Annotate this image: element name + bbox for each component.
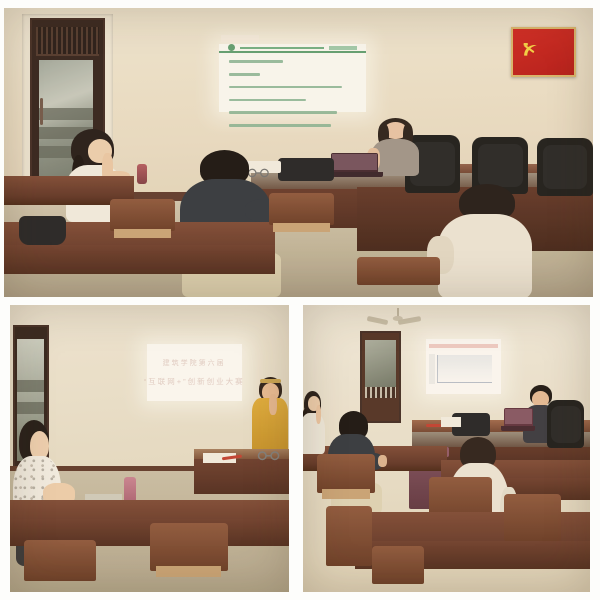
slide-bullet-icon [228, 44, 235, 51]
ceiling-fan [378, 308, 418, 334]
laptop-on-head-table[interactable] [504, 408, 533, 431]
wooden-chair[interactable] [372, 546, 424, 592]
door-handle[interactable] [40, 98, 43, 125]
red-pen-on-table [426, 424, 440, 427]
person-presenter-yellow-dress [250, 377, 289, 457]
wooden-chair[interactable] [357, 257, 439, 297]
arm-to-face [269, 394, 277, 415]
panel-presenter-in-yellow-dress[interactable]: 建筑学院第六届 “互联网+”创新创业大赛 [10, 305, 289, 592]
cpc-flag-frame [511, 27, 577, 77]
torso [303, 413, 325, 455]
slide-sidebar [429, 354, 434, 385]
wooden-chair[interactable] [150, 523, 228, 592]
wooden-chair[interactable] [504, 494, 561, 569]
handbag-on-desk[interactable] [19, 216, 66, 245]
slide-header-bar [429, 344, 498, 348]
wall-light-patch [221, 35, 259, 43]
wooden-chair[interactable] [110, 199, 175, 257]
eyeglasses-on-table [256, 450, 281, 461]
slide-title-line-1: 建筑学院第六届 [163, 358, 226, 368]
wall-projection-screen [426, 339, 501, 394]
slide-diagram [437, 355, 492, 383]
laptop-on-judges-table[interactable] [331, 153, 378, 178]
slide-title-block: 建筑学院第六届 “互联网+”创新创业大赛 [147, 344, 242, 401]
panel-judge-with-laptop-and-audience[interactable] [303, 305, 590, 592]
cpc-flag [513, 29, 575, 75]
person-attendee-man-right [434, 184, 546, 297]
photo-collage: 建筑学院第六届 “互联网+”创新创业大赛 [0, 0, 600, 600]
door-grille [36, 27, 99, 56]
hammer-and-sickle-icon [521, 37, 542, 64]
hand [378, 455, 387, 467]
papers-on-table [441, 417, 461, 427]
slide-content [219, 44, 366, 112]
wall-projection-screen [219, 44, 366, 112]
panel-conference-room-wide-shot[interactable] [4, 8, 593, 297]
wooden-chair[interactable] [326, 506, 372, 592]
title-slide-screen: 建筑学院第六届 “互联网+”创新创业大赛 [147, 344, 242, 401]
wooden-chair[interactable] [24, 540, 97, 592]
thermos-bottle[interactable] [137, 164, 147, 184]
slide-tag [329, 46, 358, 50]
executive-chair[interactable] [547, 400, 584, 449]
wooden-chair[interactable] [269, 193, 334, 251]
slide-title-line-2: “互联网+”创新创业大赛 [144, 376, 245, 387]
security-door[interactable] [360, 331, 400, 423]
